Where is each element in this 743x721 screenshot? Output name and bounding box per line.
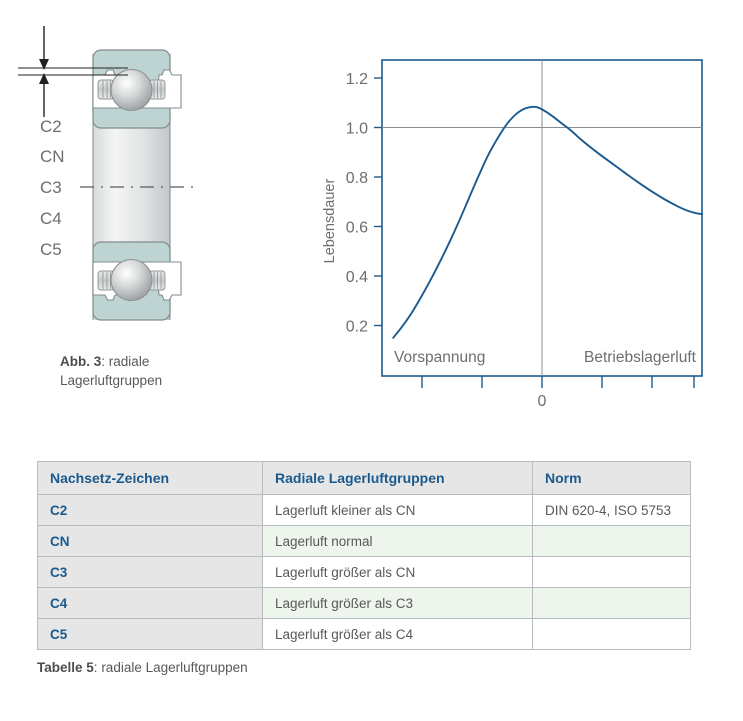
table-cell-code: C2 (38, 495, 263, 526)
table-cell-norm (533, 557, 691, 588)
table-cell-norm: DIN 620-4, ISO 5753 (533, 495, 691, 526)
lifetime-vs-clearance-chart: 1.2 1.0 0.8 0.6 0.4 0.2 Lebensdauer 0 (312, 46, 732, 406)
y-tick-1-0: 1.0 (346, 121, 368, 138)
table-cell-code: C4 (38, 588, 263, 619)
y-tick-1-2: 1.2 (346, 71, 368, 88)
y-tick-0-8: 0.8 (346, 170, 368, 187)
clearance-label-c5: C5 (40, 240, 62, 259)
table-cell-desc: Lagerluft größer als CN (263, 557, 533, 588)
table-cell-desc: Lagerluft größer als C3 (263, 588, 533, 619)
chart-svg: 1.2 1.0 0.8 0.6 0.4 0.2 Lebensdauer 0 (312, 46, 732, 406)
bearing-outer-ring-bottom (93, 242, 181, 320)
clearance-label-cn: CN (40, 147, 65, 166)
table-row: C2 Lagerluft kleiner als CN DIN 620-4, I… (38, 495, 691, 526)
bearing-figure: C2 CN C3 C4 C5 Abb. 3: radiale Lagerluft… (0, 0, 300, 420)
figure-caption: Abb. 3: radiale Lagerluftgruppen (60, 352, 250, 390)
bearing-cross-section-diagram: C2 CN C3 C4 C5 (18, 22, 278, 352)
figure-caption-number: Abb. 3 (60, 354, 101, 369)
y-tick-0-2: 0.2 (346, 319, 368, 336)
bearing-outer-ring-top (93, 50, 181, 128)
chart-y-axis-title: Lebensdauer (322, 179, 338, 264)
chart-y-tick-labels: 1.2 1.0 0.8 0.6 0.4 0.2 (346, 71, 368, 336)
chart-zone-label-preload: Vorspannung (394, 349, 485, 366)
y-tick-0-6: 0.6 (346, 220, 368, 237)
table-body: C2 Lagerluft kleiner als CN DIN 620-4, I… (38, 495, 691, 650)
table-row: C3 Lagerluft größer als CN (38, 557, 691, 588)
table-cell-code: CN (38, 526, 263, 557)
figure-caption-separator: : (101, 354, 105, 369)
table-header-nachsetz-zeichen: Nachsetz-Zeichen (38, 462, 263, 495)
table-cell-desc: Lagerluft größer als C4 (263, 619, 533, 650)
table-cell-norm (533, 526, 691, 557)
table-caption: Tabelle 5: radiale Lagerluftgruppen (37, 660, 248, 675)
table-row: C5 Lagerluft größer als C4 (38, 619, 691, 650)
table-cell-code: C3 (38, 557, 263, 588)
chart-x-ticks (422, 376, 694, 388)
chart-zone-label-operating-clearance: Betriebslagerluft (584, 349, 697, 366)
table-row: C4 Lagerluft größer als C3 (38, 588, 691, 619)
y-tick-0-4: 0.4 (346, 269, 368, 286)
bearing-ball-bottom (111, 260, 152, 301)
table-header-norm: Norm (533, 462, 691, 495)
table-caption-text: radiale Lagerluftgruppen (101, 660, 247, 675)
clearance-label-c2: C2 (40, 117, 62, 136)
table-cell-norm (533, 588, 691, 619)
bearing-ball-top (111, 70, 152, 111)
clearance-groups-table-wrap: Nachsetz-Zeichen Radiale Lagerluftgruppe… (37, 461, 691, 650)
table-header-row: Nachsetz-Zeichen Radiale Lagerluftgruppe… (38, 462, 691, 495)
dimension-arrows (39, 26, 49, 117)
table-head: Nachsetz-Zeichen Radiale Lagerluftgruppe… (38, 462, 691, 495)
table-cell-desc: Lagerluft normal (263, 526, 533, 557)
table-cell-norm (533, 619, 691, 650)
clearance-label-c4: C4 (40, 209, 62, 228)
table-header-radiale-lagerluftgruppen: Radiale Lagerluftgruppen (263, 462, 533, 495)
document-page: C2 CN C3 C4 C5 Abb. 3: radiale Lagerluft… (0, 0, 743, 721)
table-row: CN Lagerluft normal (38, 526, 691, 557)
chart-y-ticks (374, 78, 382, 326)
clearance-label-c3: C3 (40, 178, 62, 197)
table-cell-code: C5 (38, 619, 263, 650)
table-caption-separator: : (94, 660, 98, 675)
table-caption-number: Tabelle 5 (37, 660, 94, 675)
chart-origin-label: 0 (538, 393, 547, 406)
table-cell-desc: Lagerluft kleiner als CN (263, 495, 533, 526)
clearance-groups-table: Nachsetz-Zeichen Radiale Lagerluftgruppe… (37, 461, 691, 650)
